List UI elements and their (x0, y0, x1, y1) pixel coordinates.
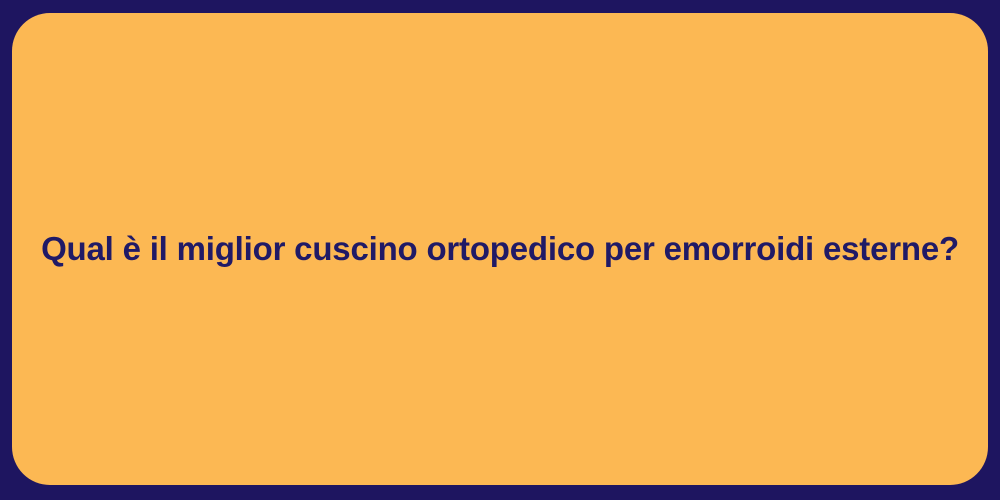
headline-text: Qual è il miglior cuscino ortopedico per… (41, 228, 959, 269)
card-frame: Qual è il miglior cuscino ortopedico per… (0, 0, 1000, 500)
card-panel: Qual è il miglior cuscino ortopedico per… (12, 13, 988, 485)
